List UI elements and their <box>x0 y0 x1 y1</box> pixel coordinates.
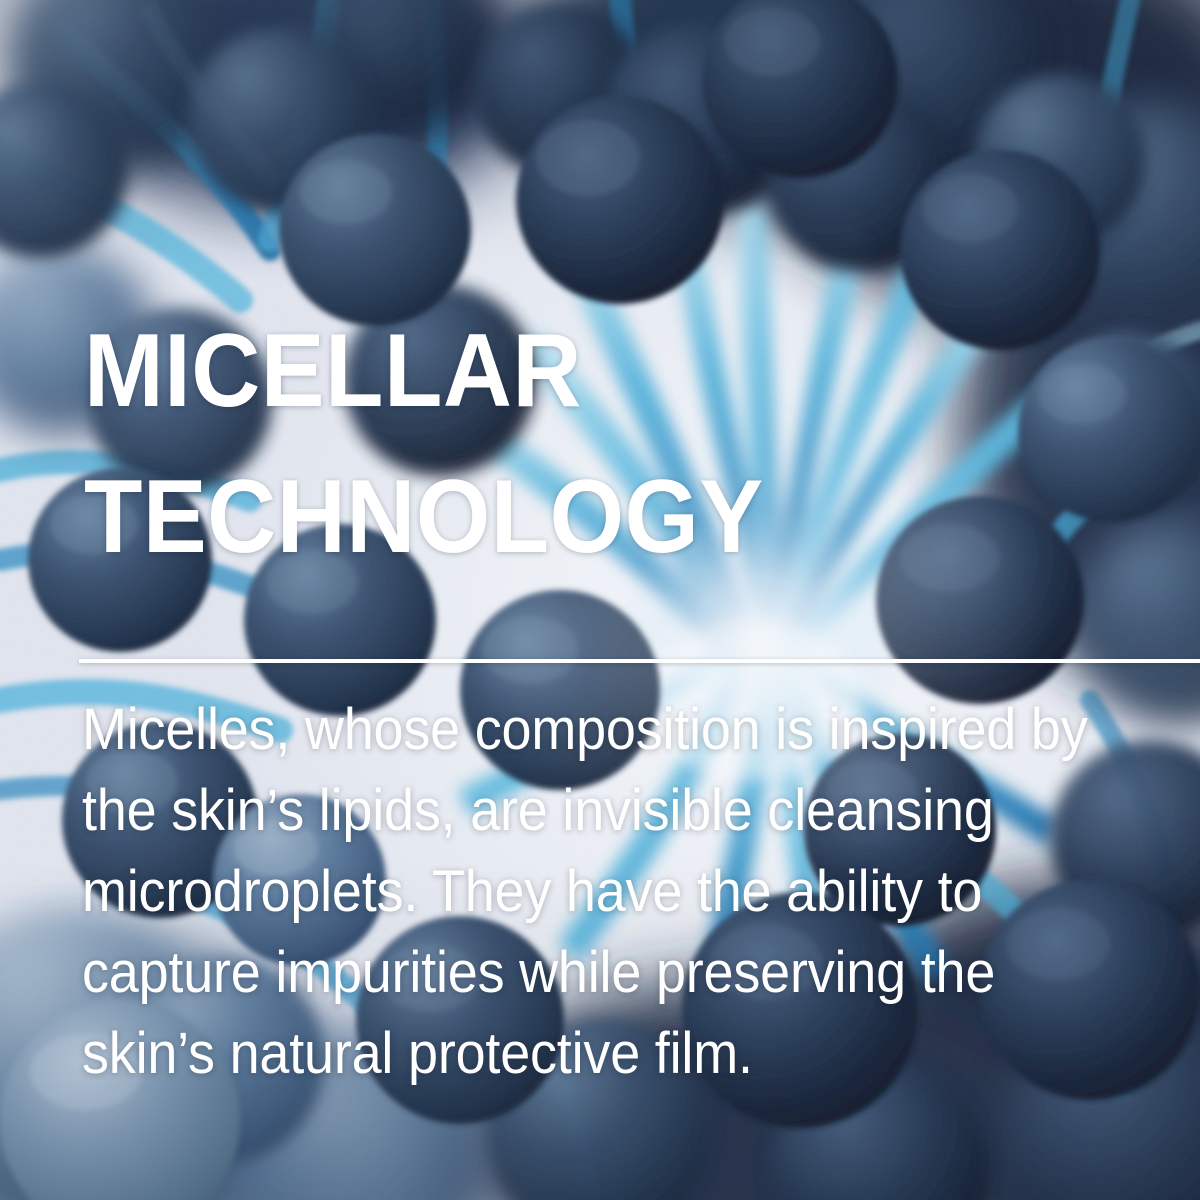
title-divider-rule <box>79 659 1200 663</box>
page-title: MICELLAR TECHNOLOGY <box>84 298 1064 590</box>
title-line-1: MICELLAR <box>84 298 1064 444</box>
body-description: Micelles, whose composition is inspired … <box>82 689 1142 1094</box>
title-line-2: TECHNOLOGY <box>84 444 1064 590</box>
micellar-technology-poster: MICELLAR TECHNOLOGY Micelles, whose comp… <box>0 0 1200 1200</box>
poster-content: MICELLAR TECHNOLOGY Micelles, whose comp… <box>84 228 1149 1152</box>
